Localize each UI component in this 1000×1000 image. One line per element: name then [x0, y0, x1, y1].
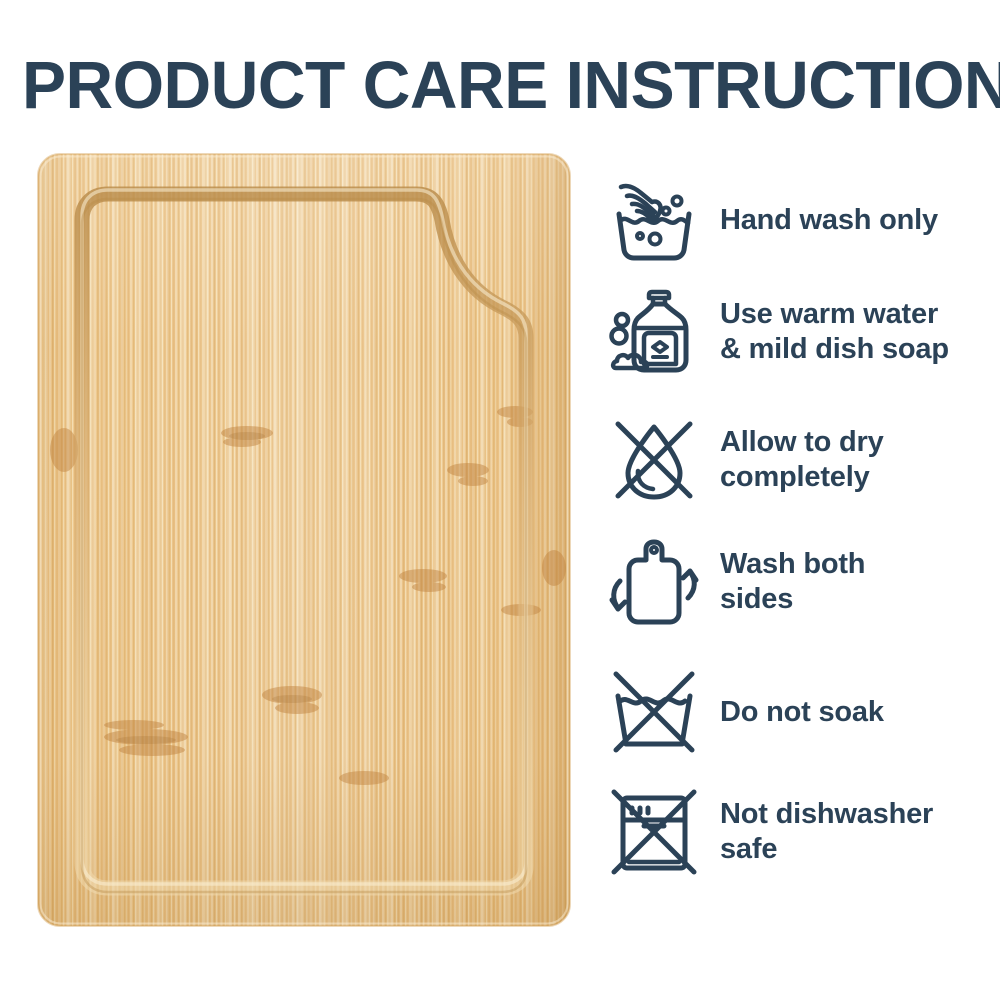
product-image — [34, 150, 574, 930]
dish-soap-bottle-icon — [606, 284, 702, 380]
care-item-label: Wash both sides — [720, 547, 865, 617]
care-instruction-list: Hand wash only — [606, 172, 988, 932]
care-item-label: Not dishwasher safe — [720, 797, 933, 867]
care-item-label: Do not soak — [720, 695, 884, 730]
cutting-board-flip-icon — [606, 534, 702, 630]
care-item-not-dishwasher-safe: Not dishwasher safe — [606, 784, 988, 880]
care-item-hand-wash: Hand wash only — [606, 172, 988, 268]
care-instruction-page: PRODUCT CARE INSTRUCTION — [0, 0, 1000, 1000]
care-item-do-not-soak: Do not soak — [606, 664, 988, 760]
care-item-warm-water-soap: Use warm water & mild dish soap — [606, 284, 988, 380]
no-water-droplet-icon — [606, 412, 702, 508]
no-dishwasher-icon — [606, 784, 702, 880]
page-title: PRODUCT CARE INSTRUCTION — [22, 52, 968, 122]
hand-wash-basin-icon — [606, 172, 702, 268]
care-item-allow-dry: Allow to dry completely — [606, 412, 988, 508]
care-item-label: Use warm water & mild dish soap — [720, 297, 949, 367]
no-soak-basin-icon — [606, 664, 702, 760]
care-item-label: Hand wash only — [720, 203, 938, 238]
care-item-label: Allow to dry completely — [720, 425, 884, 495]
bamboo-cutting-board-illustration — [34, 150, 574, 930]
care-item-wash-both-sides: Wash both sides — [606, 534, 988, 630]
